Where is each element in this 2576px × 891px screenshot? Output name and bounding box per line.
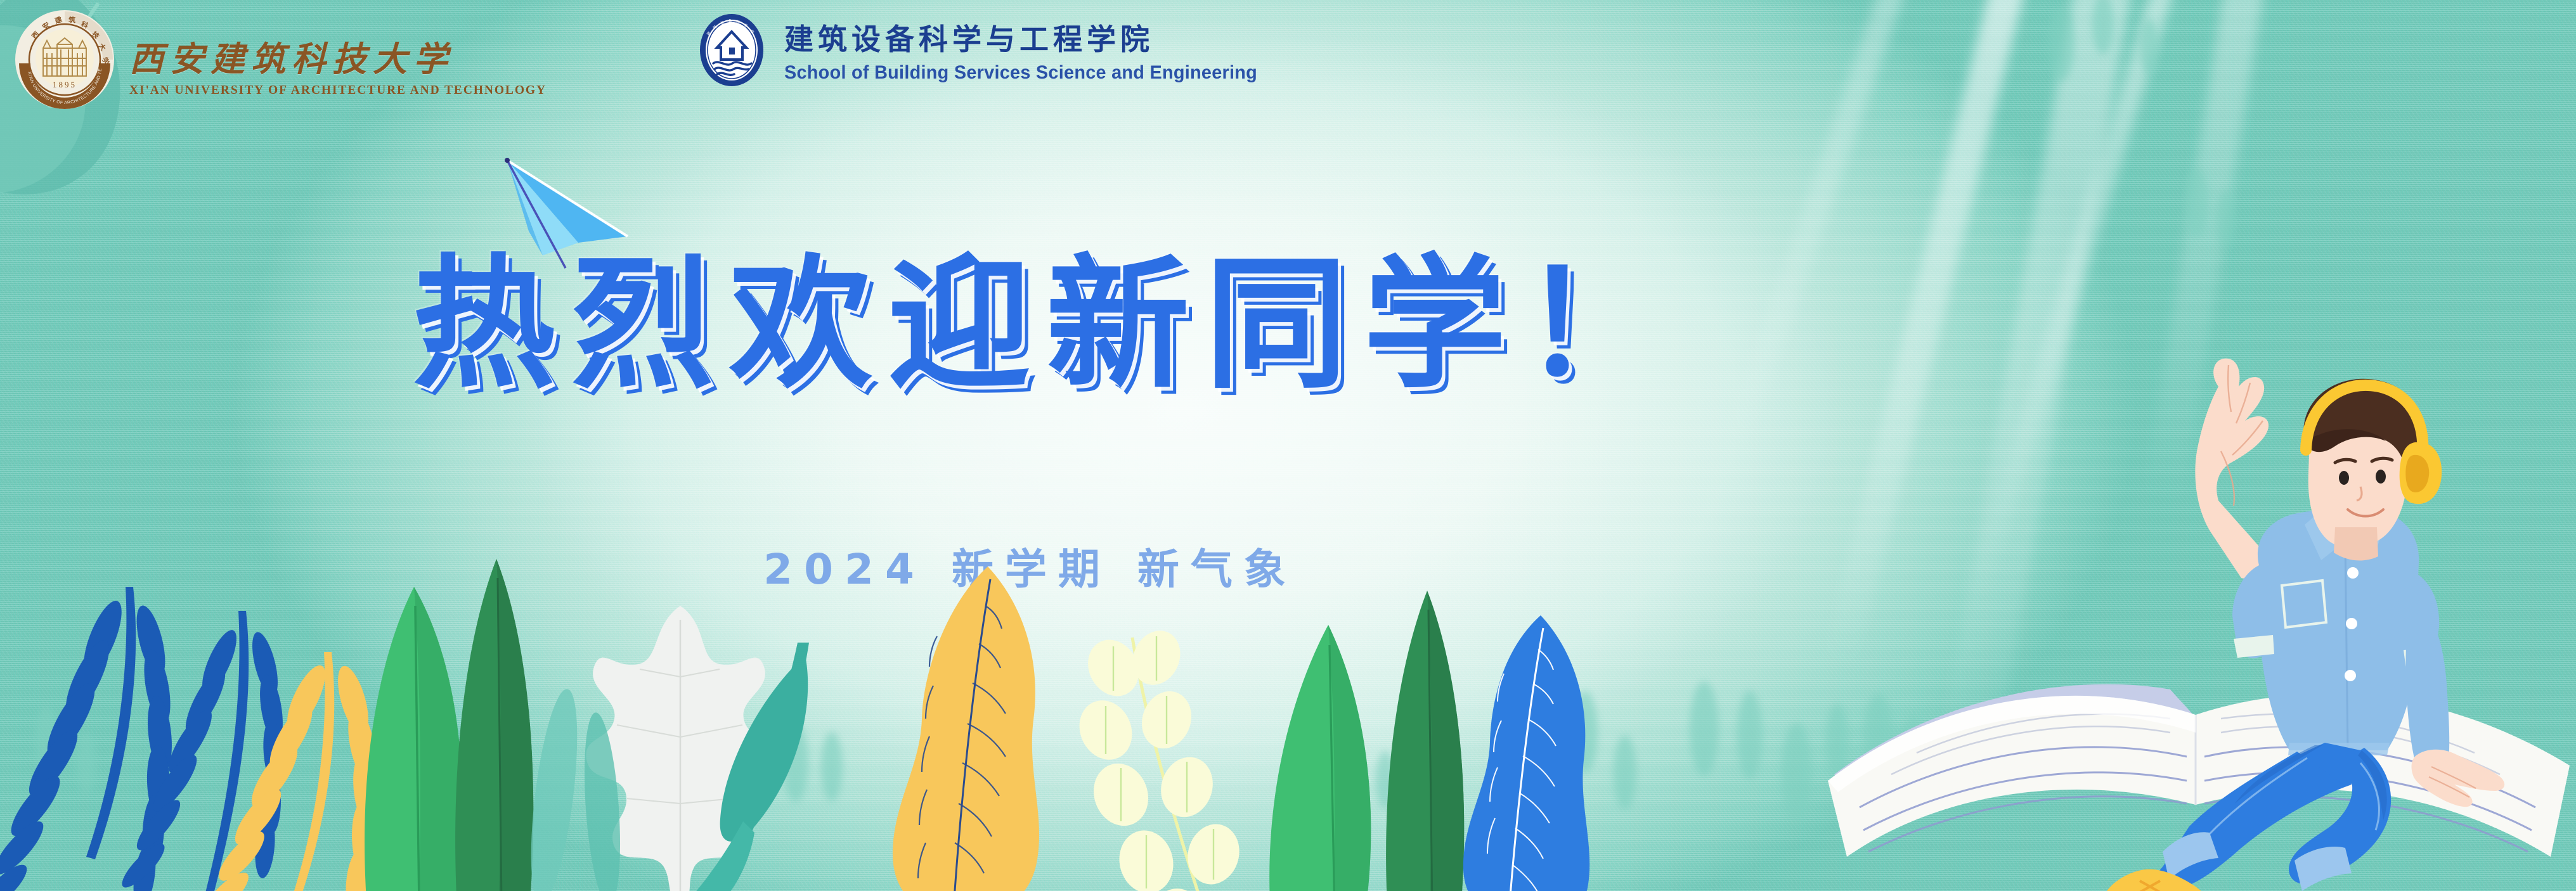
university-seal-icon: 1895 西 安 建 筑 科 技 大 学 XI'AN — [14, 9, 115, 110]
university-name-cn: 西安建筑科技大学 — [129, 31, 547, 81]
welcome-banner: 1895 西 安 建 筑 科 技 大 学 XI'AN — [0, 0, 2576, 891]
page-title: 热烈欢迎新同学！ — [0, 253, 2092, 397]
head — [2303, 379, 2442, 561]
university-identity: 1895 西 安 建 筑 科 技 大 学 XI'AN — [14, 9, 547, 110]
school-name-en: School of Building Services Science and … — [784, 62, 1257, 84]
svg-text:1895: 1895 — [53, 80, 77, 89]
resting-arm — [2405, 603, 2504, 807]
school-identity: 建 筑 设 备 科 学 院 建筑设备科学与工程学院 School of Buil… — [694, 13, 1277, 87]
school-emblem-icon: 建 筑 设 备 科 学 院 — [694, 13, 769, 87]
student-waving-on-book-icon — [1815, 337, 2576, 891]
university-name-en: XI'AN UNIVERSITY OF ARCHITECTURE AND TEC… — [129, 84, 547, 98]
banner-header: 1895 西 安 建 筑 科 技 大 学 XI'AN — [0, 0, 2576, 146]
svg-text:筑: 筑 — [68, 15, 75, 24]
page-subtitle: 2024 新学期 新气象 — [0, 535, 2061, 596]
raised-arm — [2195, 359, 2269, 579]
school-name-cn: 建筑设备科学与工程学院 — [784, 16, 1277, 58]
